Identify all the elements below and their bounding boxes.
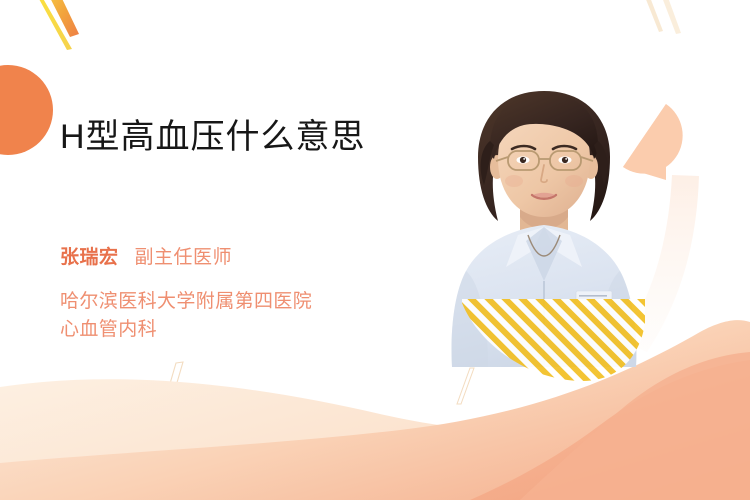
head (478, 91, 610, 221)
doctor-hospital: 哈尔滨医科大学附属第四医院 (60, 288, 312, 316)
doctor-identity: 张瑞宏副主任医师 (60, 248, 232, 267)
doctor-name: 张瑞宏 (60, 247, 119, 268)
doctor-portrait (440, 85, 655, 385)
doctor-portrait-illustration (440, 85, 655, 385)
page-title: H型高血压什么意思 (60, 118, 366, 157)
doctor-rank: 副主任医师 (135, 247, 233, 268)
doctor-affiliation: 哈尔滨医科大学附属第四医院 心血管内科 (60, 288, 312, 343)
doctor-info-card: H型高血压什么意思 张瑞宏副主任医师 哈尔滨医科大学附属第四医院 心血管内科 (0, 0, 750, 500)
doctor-department: 心血管内科 (60, 316, 312, 344)
